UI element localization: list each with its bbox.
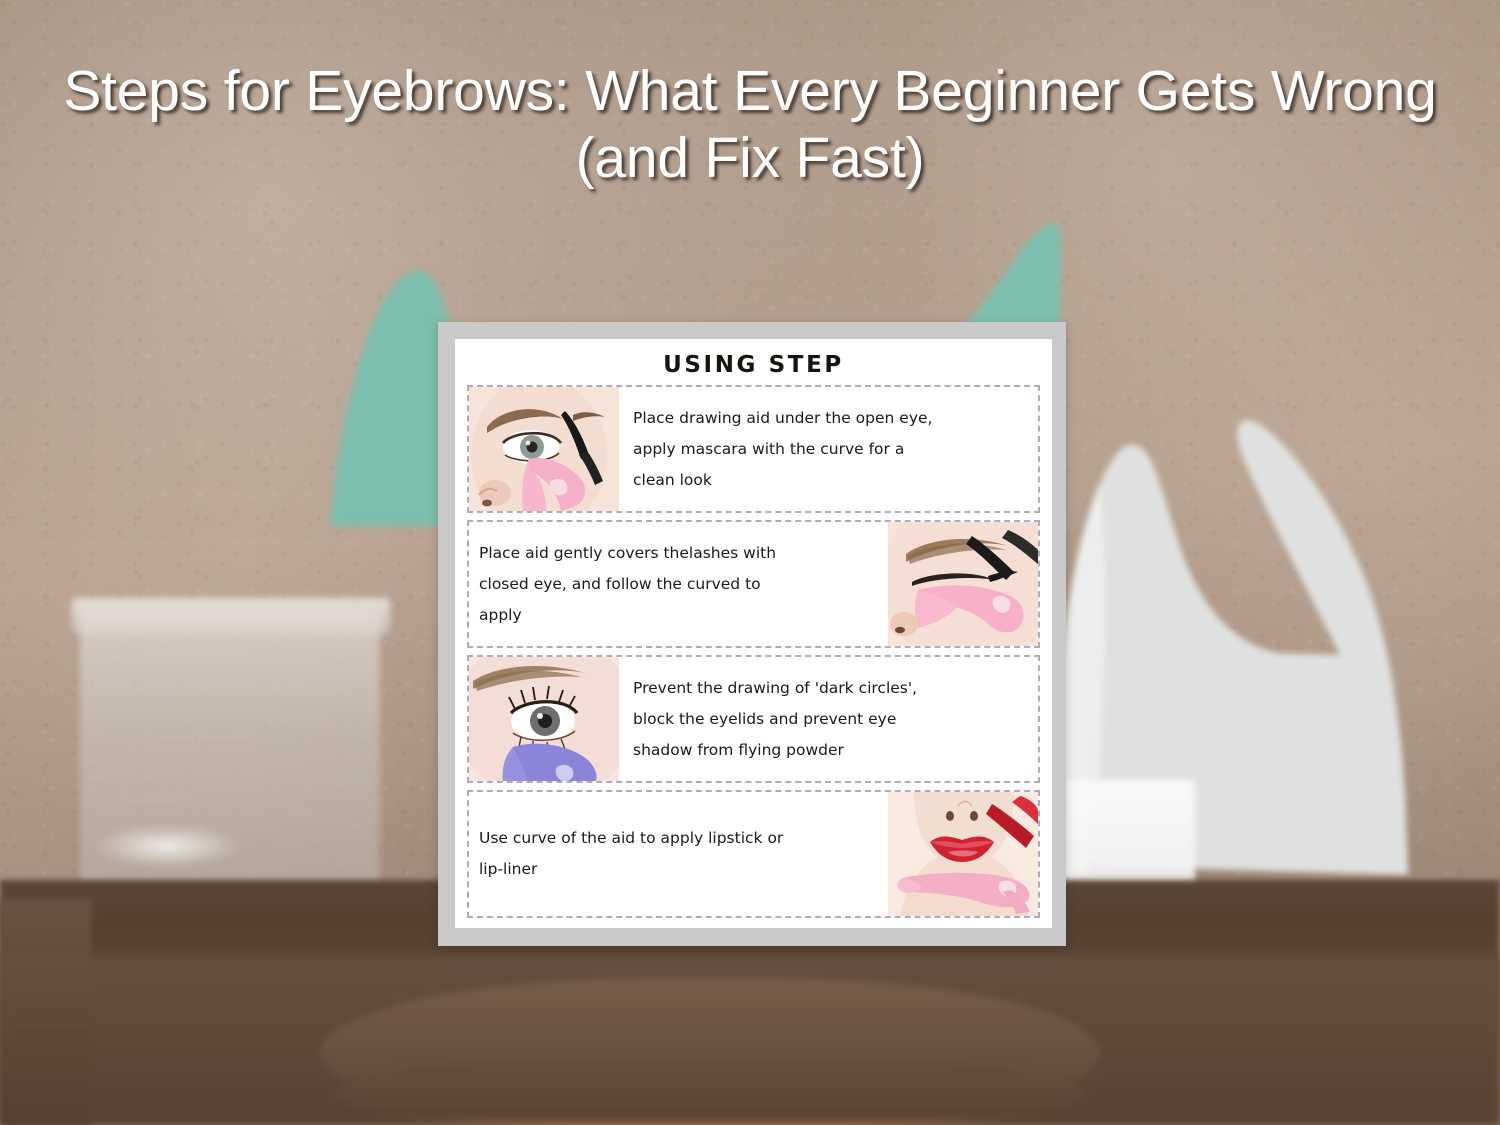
step-row: Place aid gently covers thelashes with c… xyxy=(467,520,1040,648)
step-line: clean look xyxy=(633,465,1026,496)
step-1-photo-open-eye-mascara xyxy=(469,387,619,511)
step-line: closed eye, and follow the curved to xyxy=(479,569,876,600)
step-4-photo-lipstick xyxy=(888,792,1038,916)
step-4-text: Use curve of the aid to apply lipstick o… xyxy=(469,792,888,916)
card-heading: USING STEP xyxy=(467,347,1040,385)
step-row: Prevent the drawing of 'dark circles', b… xyxy=(467,655,1040,783)
step-2-photo-closed-eye-eyeliner xyxy=(888,522,1038,646)
step-row: Place drawing aid under the open eye, ap… xyxy=(467,385,1040,513)
step-line: Place aid gently covers thelashes with xyxy=(479,538,876,569)
table-front-edge xyxy=(0,955,1500,1125)
card-inner: USING STEP xyxy=(455,339,1052,928)
page-title: Steps for Eyebrows: What Every Beginner … xyxy=(0,58,1500,192)
slide-canvas: Steps for Eyebrows: What Every Beginner … xyxy=(0,0,1500,1125)
step-3-text: Prevent the drawing of 'dark circles', b… xyxy=(619,657,1038,781)
step-line: apply xyxy=(479,600,876,631)
step-line: Place drawing aid under the open eye, xyxy=(633,403,1026,434)
step-line: block the eyelids and prevent eye xyxy=(633,704,1026,735)
step-3-photo-eyeshadow-shield xyxy=(469,657,619,781)
step-line: Use curve of the aid to apply lipstick o… xyxy=(479,823,876,854)
step-2-text: Place aid gently covers thelashes with c… xyxy=(469,522,888,646)
plastic-container xyxy=(80,608,380,918)
step-line: apply mascara with the curve for a xyxy=(633,434,1026,465)
product-instruction-card: USING STEP xyxy=(438,322,1066,946)
step-1-text: Place drawing aid under the open eye, ap… xyxy=(619,387,1038,511)
step-line: Prevent the drawing of 'dark circles', xyxy=(633,673,1026,704)
step-row: Use curve of the aid to apply lipstick o… xyxy=(467,790,1040,918)
step-line: shadow from flying powder xyxy=(633,735,1026,766)
step-line: lip-liner xyxy=(479,854,876,885)
plastic-highlight-upper xyxy=(92,824,242,868)
